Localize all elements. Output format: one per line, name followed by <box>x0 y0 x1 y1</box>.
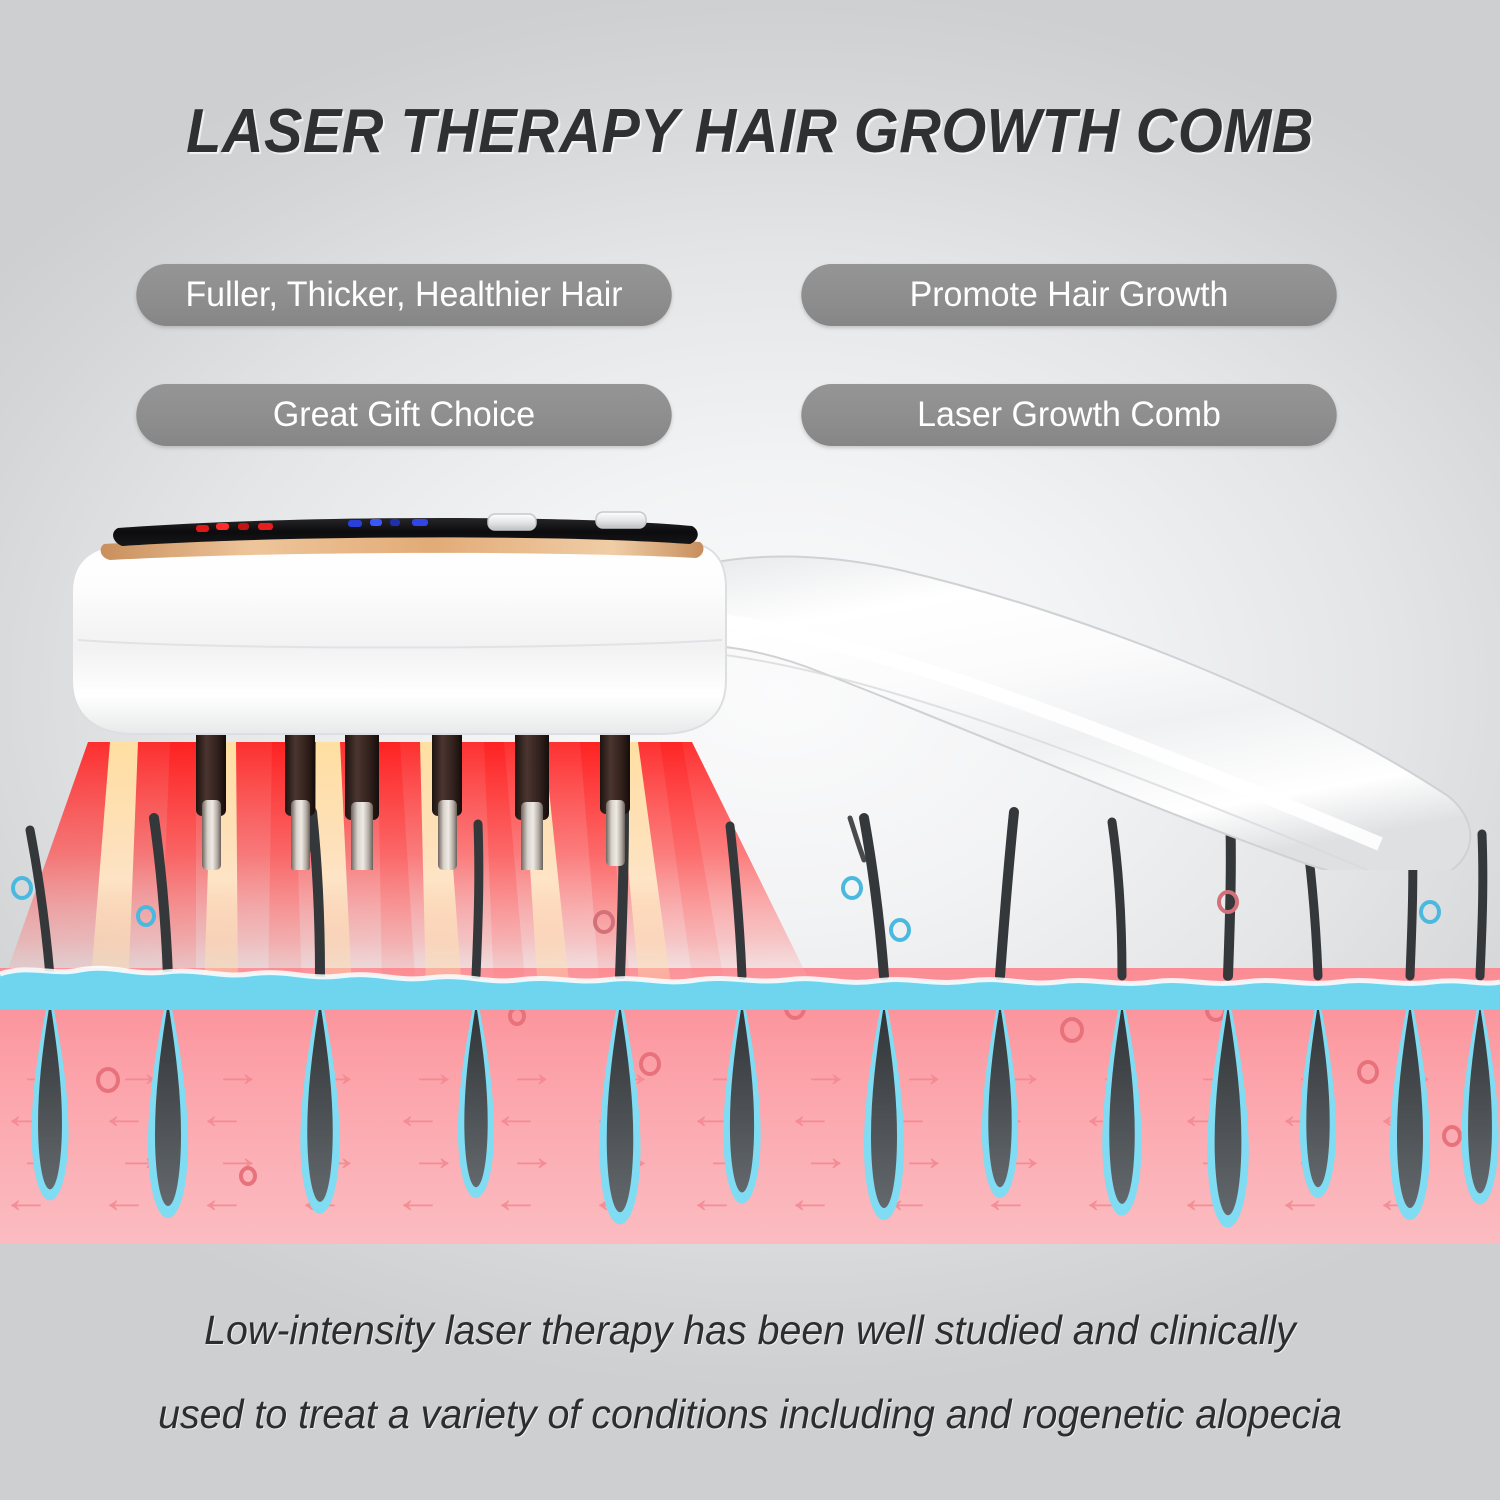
caption-line-2: used to treat a variety of conditions in… <box>88 1372 1413 1456</box>
feature-pill-group: Fuller, Thicker, Healthier Hair Promote … <box>0 262 1500 452</box>
feature-pill-label: Laser Growth Comb <box>917 396 1221 434</box>
feature-pill-label: Promote Hair Growth <box>910 276 1229 314</box>
feature-pill-laser-growth-comb[interactable]: Laser Growth Comb <box>801 384 1336 446</box>
device-head <box>72 542 726 734</box>
caption-block: Low-intensity laser therapy has been wel… <box>88 1288 1413 1456</box>
dermal-cells <box>595 892 1237 932</box>
feature-pill-great-gift-choice[interactable]: Great Gift Choice <box>136 384 671 446</box>
comb-teeth <box>196 728 630 870</box>
product-infographic: LASER THERAPY HAIR GROWTH COMB Fuller, T… <box>0 0 1500 1500</box>
page-title: LASER THERAPY HAIR GROWTH COMB <box>53 96 1448 168</box>
feature-pill-label: Great Gift Choice <box>273 396 535 434</box>
feature-pill-label: Fuller, Thicker, Healthier Hair <box>185 276 622 314</box>
laser-therapy-comb-device <box>0 500 1500 870</box>
mode-button[interactable] <box>596 512 646 528</box>
feature-pill-fuller-thicker-healthier-hair[interactable]: Fuller, Thicker, Healthier Hair <box>136 264 671 326</box>
feature-pill-promote-hair-growth[interactable]: Promote Hair Growth <box>801 264 1336 326</box>
skin-surface-layer <box>0 940 1500 1010</box>
power-button[interactable] <box>488 514 536 530</box>
caption-line-1: Low-intensity laser therapy has been wel… <box>88 1288 1413 1372</box>
